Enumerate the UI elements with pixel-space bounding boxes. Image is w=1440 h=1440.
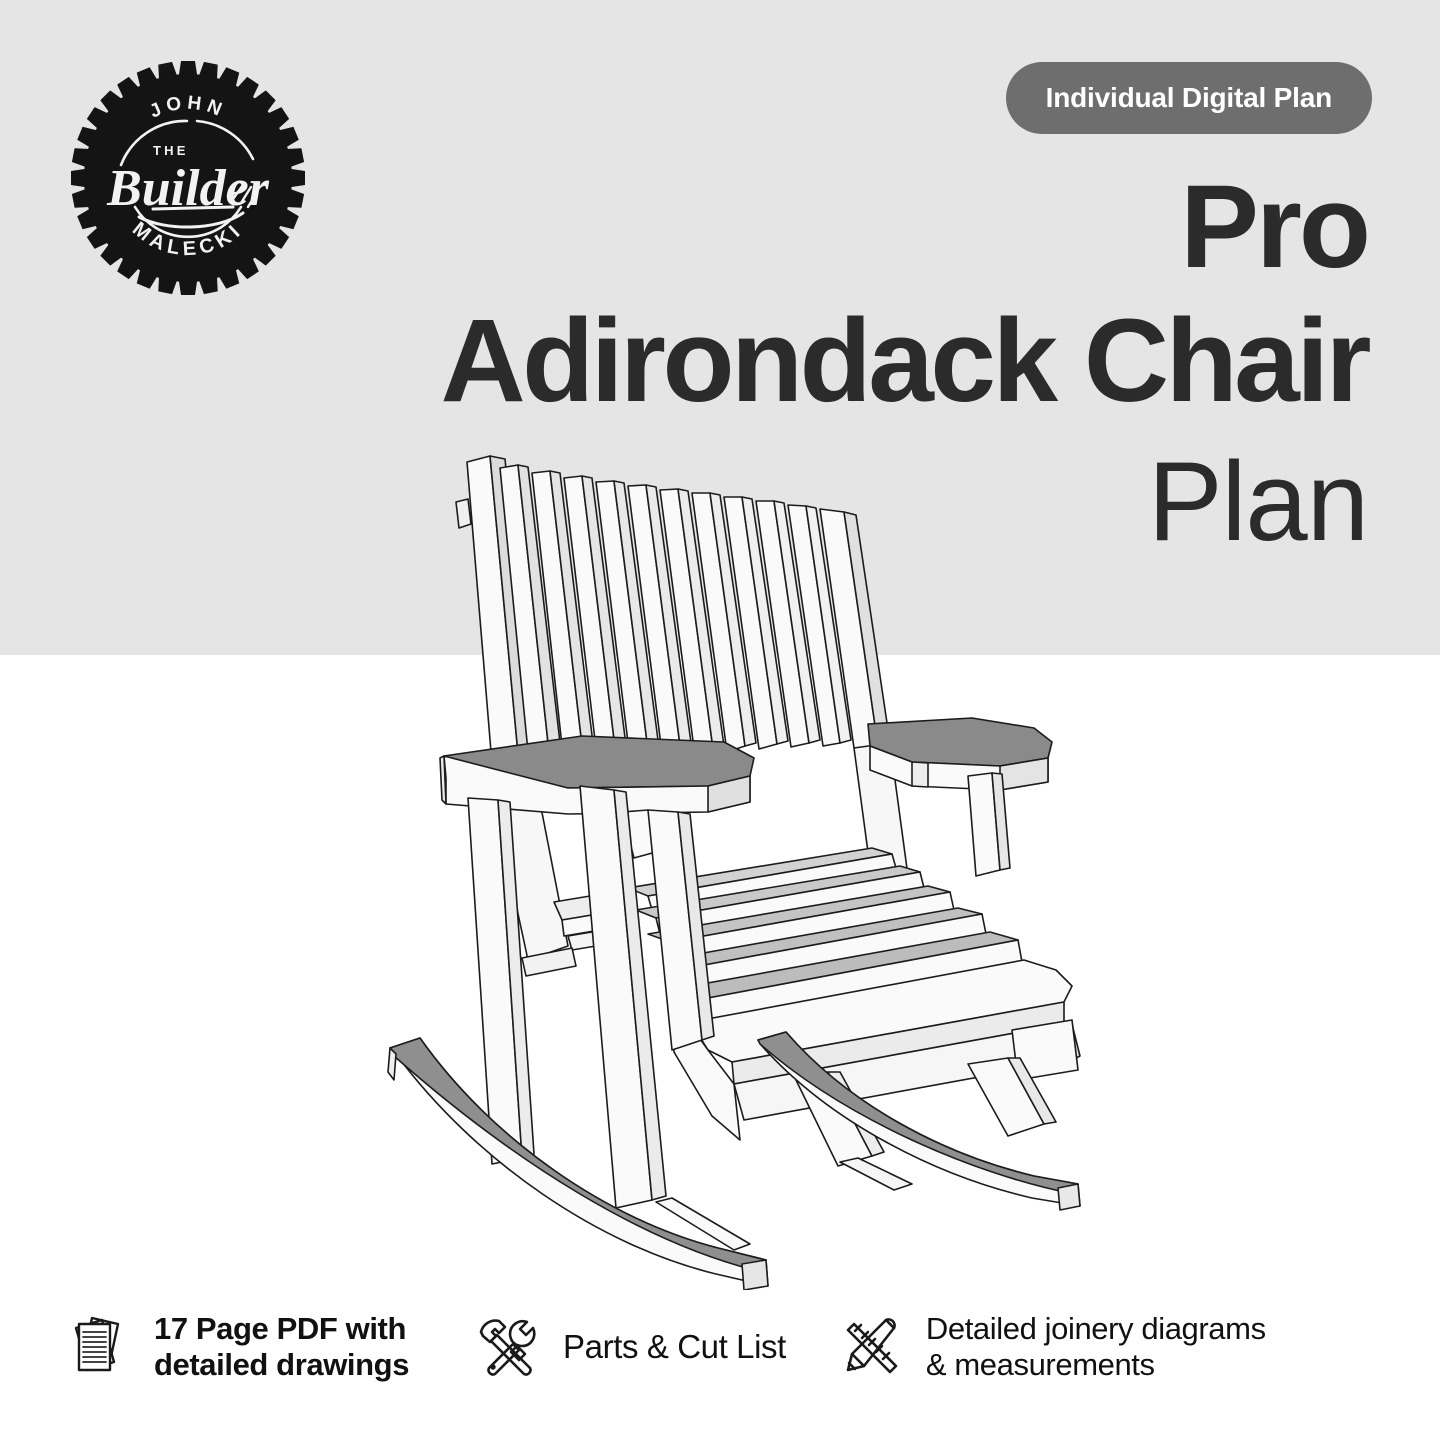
feature-item-joinery: Detailed joinery diagrams & measurements	[834, 1308, 1266, 1386]
ruler-pencil-icon	[834, 1308, 908, 1386]
plan-cover-page: JOHN MALECKI THE Builder	[0, 0, 1440, 1440]
badge-label: Individual Digital Plan	[1046, 82, 1332, 114]
individual-digital-plan-badge[interactable]: Individual Digital Plan	[1006, 62, 1372, 134]
hammer-wrench-icon	[471, 1308, 545, 1386]
adirondack-rocking-chair-illustration	[372, 440, 1092, 1290]
feature-label-cut-list: Parts & Cut List	[563, 1328, 786, 1366]
stacked-documents-icon	[62, 1308, 136, 1386]
features-row: 17 Page PDF with detailed drawings	[0, 1284, 1440, 1410]
feature-label-pdf: 17 Page PDF with detailed drawings	[154, 1311, 409, 1383]
title-line-product: Adirondack Chair	[248, 302, 1368, 420]
logo-the-text: THE	[153, 143, 189, 158]
chair-rocker-brace	[656, 1158, 912, 1250]
feature-item-cut-list: Parts & Cut List	[471, 1308, 786, 1386]
title-line-pro: Pro	[248, 168, 1368, 286]
feature-label-joinery: Detailed joinery diagrams & measurements	[926, 1311, 1266, 1383]
feature-item-pdf: 17 Page PDF with detailed drawings	[62, 1308, 409, 1386]
